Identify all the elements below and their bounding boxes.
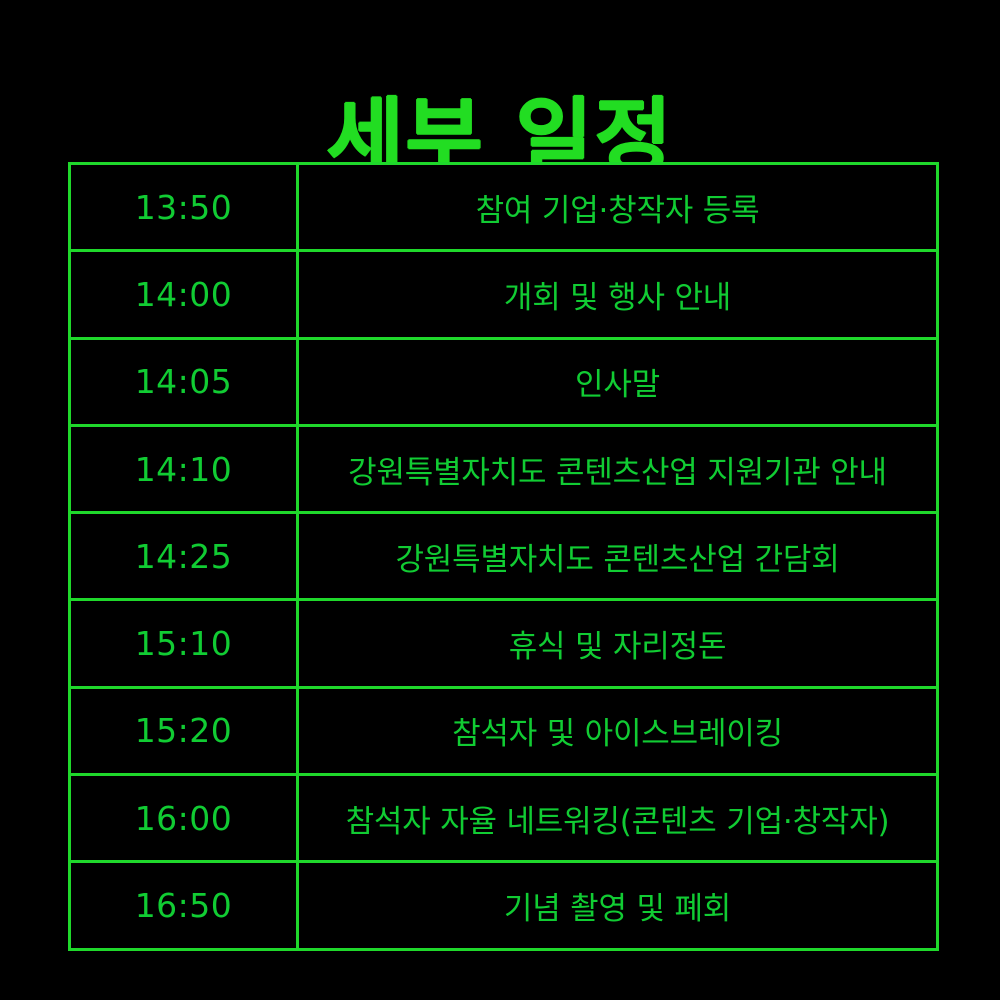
row-event: 휴식 및 자리정돈 [298, 600, 938, 687]
row-event: 참여 기업·창작자 등록 [298, 164, 938, 251]
row-event: 참석자 및 아이스브레이킹 [298, 687, 938, 774]
table-row: 16:00 참석자 자율 네트워킹(콘텐츠 기업·창작자) [70, 775, 938, 862]
table-row: 14:05 인사말 [70, 338, 938, 425]
row-time: 14:05 [70, 338, 298, 425]
row-event: 개회 및 행사 안내 [298, 251, 938, 338]
schedule-table: 13:50 참여 기업·창작자 등록 14:00 개회 및 행사 안내 14:0… [68, 162, 939, 951]
row-time: 15:10 [70, 600, 298, 687]
row-time: 13:50 [70, 164, 298, 251]
row-event: 인사말 [298, 338, 938, 425]
row-time: 14:00 [70, 251, 298, 338]
table-row: 15:10 휴식 및 자리정돈 [70, 600, 938, 687]
row-event: 강원특별자치도 콘텐츠산업 간담회 [298, 513, 938, 600]
row-time: 16:50 [70, 862, 298, 949]
row-time: 16:00 [70, 775, 298, 862]
row-time: 14:10 [70, 425, 298, 512]
row-event: 참석자 자율 네트워킹(콘텐츠 기업·창작자) [298, 775, 938, 862]
row-event: 강원특별자치도 콘텐츠산업 지원기관 안내 [298, 425, 938, 512]
schedule-poster: 세부 일정 13:50 참여 기업·창작자 등록 14:00 개회 및 행사 안… [0, 0, 1000, 1000]
table-row: 14:10 강원특별자치도 콘텐츠산업 지원기관 안내 [70, 425, 938, 512]
table-row: 15:20 참석자 및 아이스브레이킹 [70, 687, 938, 774]
row-time: 14:25 [70, 513, 298, 600]
schedule-table-body: 13:50 참여 기업·창작자 등록 14:00 개회 및 행사 안내 14:0… [70, 164, 938, 950]
table-row: 14:25 강원특별자치도 콘텐츠산업 간담회 [70, 513, 938, 600]
row-event: 기념 촬영 및 폐회 [298, 862, 938, 949]
table-row: 13:50 참여 기업·창작자 등록 [70, 164, 938, 251]
row-time: 15:20 [70, 687, 298, 774]
table-row: 16:50 기념 촬영 및 폐회 [70, 862, 938, 949]
table-row: 14:00 개회 및 행사 안내 [70, 251, 938, 338]
